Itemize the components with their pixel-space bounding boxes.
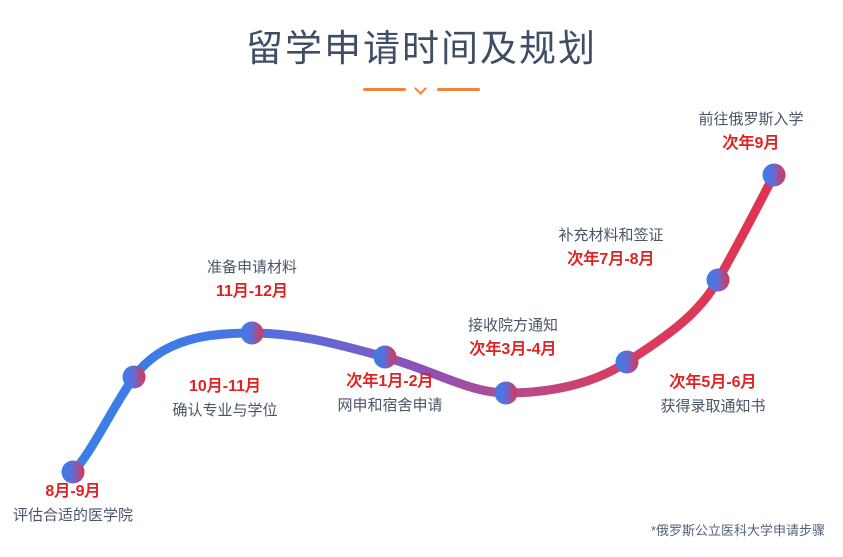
- timeline-node-7-desc: 补充材料和签证: [513, 224, 709, 248]
- timeline-node-7-period: 次年7月-8月: [513, 248, 709, 272]
- timeline-node-1-desc: 评估合适的医学院: [3, 504, 143, 528]
- timeline-node-5-period: 次年3月-4月: [418, 338, 608, 362]
- timeline-node-7-dot[interactable]: [707, 269, 730, 292]
- timeline-node-5-dot[interactable]: [495, 382, 518, 405]
- footnote: *俄罗斯公立医科大学申请步骤: [651, 520, 825, 539]
- timeline-node-8-label[interactable]: 前往俄罗斯入学 次年9月: [662, 108, 840, 156]
- timeline-node-3-desc: 准备申请材料: [162, 256, 342, 280]
- timeline-node-8-desc: 前往俄罗斯入学: [662, 108, 840, 132]
- timeline-node-5-label[interactable]: 接收院方通知 次年3月-4月: [418, 314, 608, 362]
- timeline-curve: [0, 0, 843, 557]
- timeline-infographic: 留学申请时间及规划: [0, 0, 843, 557]
- timeline-node-3-dot[interactable]: [241, 322, 264, 345]
- timeline-node-1-period: 8月-9月: [3, 480, 143, 504]
- timeline-node-8-period: 次年9月: [662, 132, 840, 156]
- timeline-node-7-label[interactable]: 补充材料和签证 次年7月-8月: [513, 224, 709, 272]
- timeline-node-4-label[interactable]: 次年1月-2月 网申和宿舍申请: [295, 370, 485, 418]
- timeline-node-3-period: 11月-12月: [162, 280, 342, 304]
- timeline-node-1-label[interactable]: 8月-9月 评估合适的医学院: [3, 480, 143, 528]
- timeline-node-3-label[interactable]: 准备申请材料 11月-12月: [162, 256, 342, 304]
- timeline-node-6-period: 次年5月-6月: [618, 371, 808, 395]
- timeline-node-6-label[interactable]: 次年5月-6月 获得录取通知书: [618, 371, 808, 419]
- timeline-node-4-dot[interactable]: [374, 346, 397, 369]
- timeline-node-4-period: 次年1月-2月: [295, 370, 485, 394]
- timeline-node-4-desc: 网申和宿舍申请: [295, 394, 485, 418]
- timeline-node-8-dot[interactable]: [763, 164, 786, 187]
- timeline-node-6-desc: 获得录取通知书: [618, 395, 808, 419]
- timeline-node-5-desc: 接收院方通知: [418, 314, 608, 338]
